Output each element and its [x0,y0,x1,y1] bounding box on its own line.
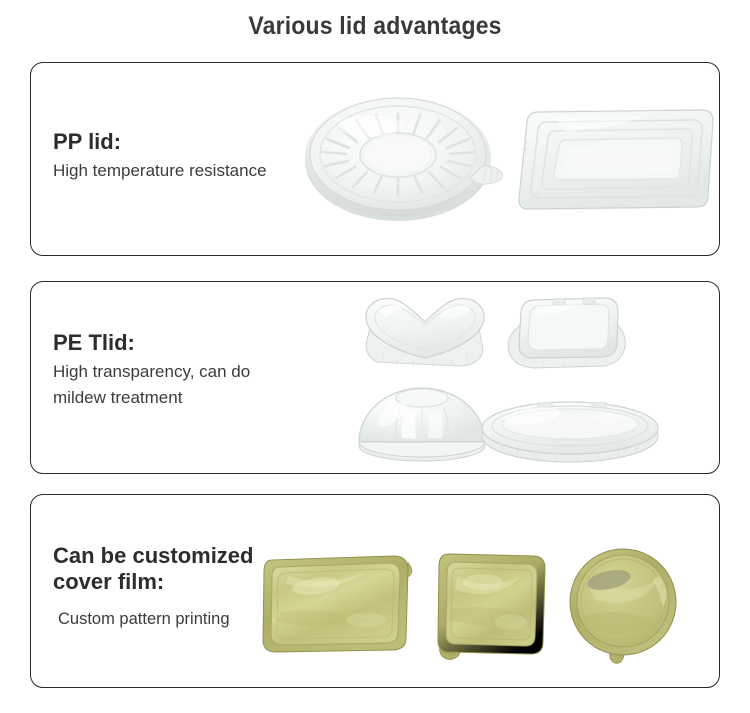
card-pp-text-block: PP lid: High temperature resistance [53,129,267,184]
card-film-heading: Can be customized cover film: [53,543,253,595]
card-pp-description: High temperature resistance [53,158,267,184]
card-pp-heading: PP lid: [53,129,267,155]
card-cover-film: Can be customized cover film: Custom pat… [30,494,720,688]
card-film-text-block: Can be customized cover film: Custom pat… [53,543,253,632]
card-pp-lid: PP lid: High temperature resistance [30,62,720,256]
card-pe-text-block: PE Tlid: High transparency, can do milde… [53,330,250,412]
page-title: Various lid advantages [30,12,720,41]
card-film-description: Custom pattern printing [53,607,253,633]
card-pe-lid: PE Tlid: High transparency, can do milde… [30,281,720,474]
card-pe-heading: PE Tlid: [53,330,250,356]
card-pe-description: High transparency, can do mildew treatme… [53,359,250,412]
